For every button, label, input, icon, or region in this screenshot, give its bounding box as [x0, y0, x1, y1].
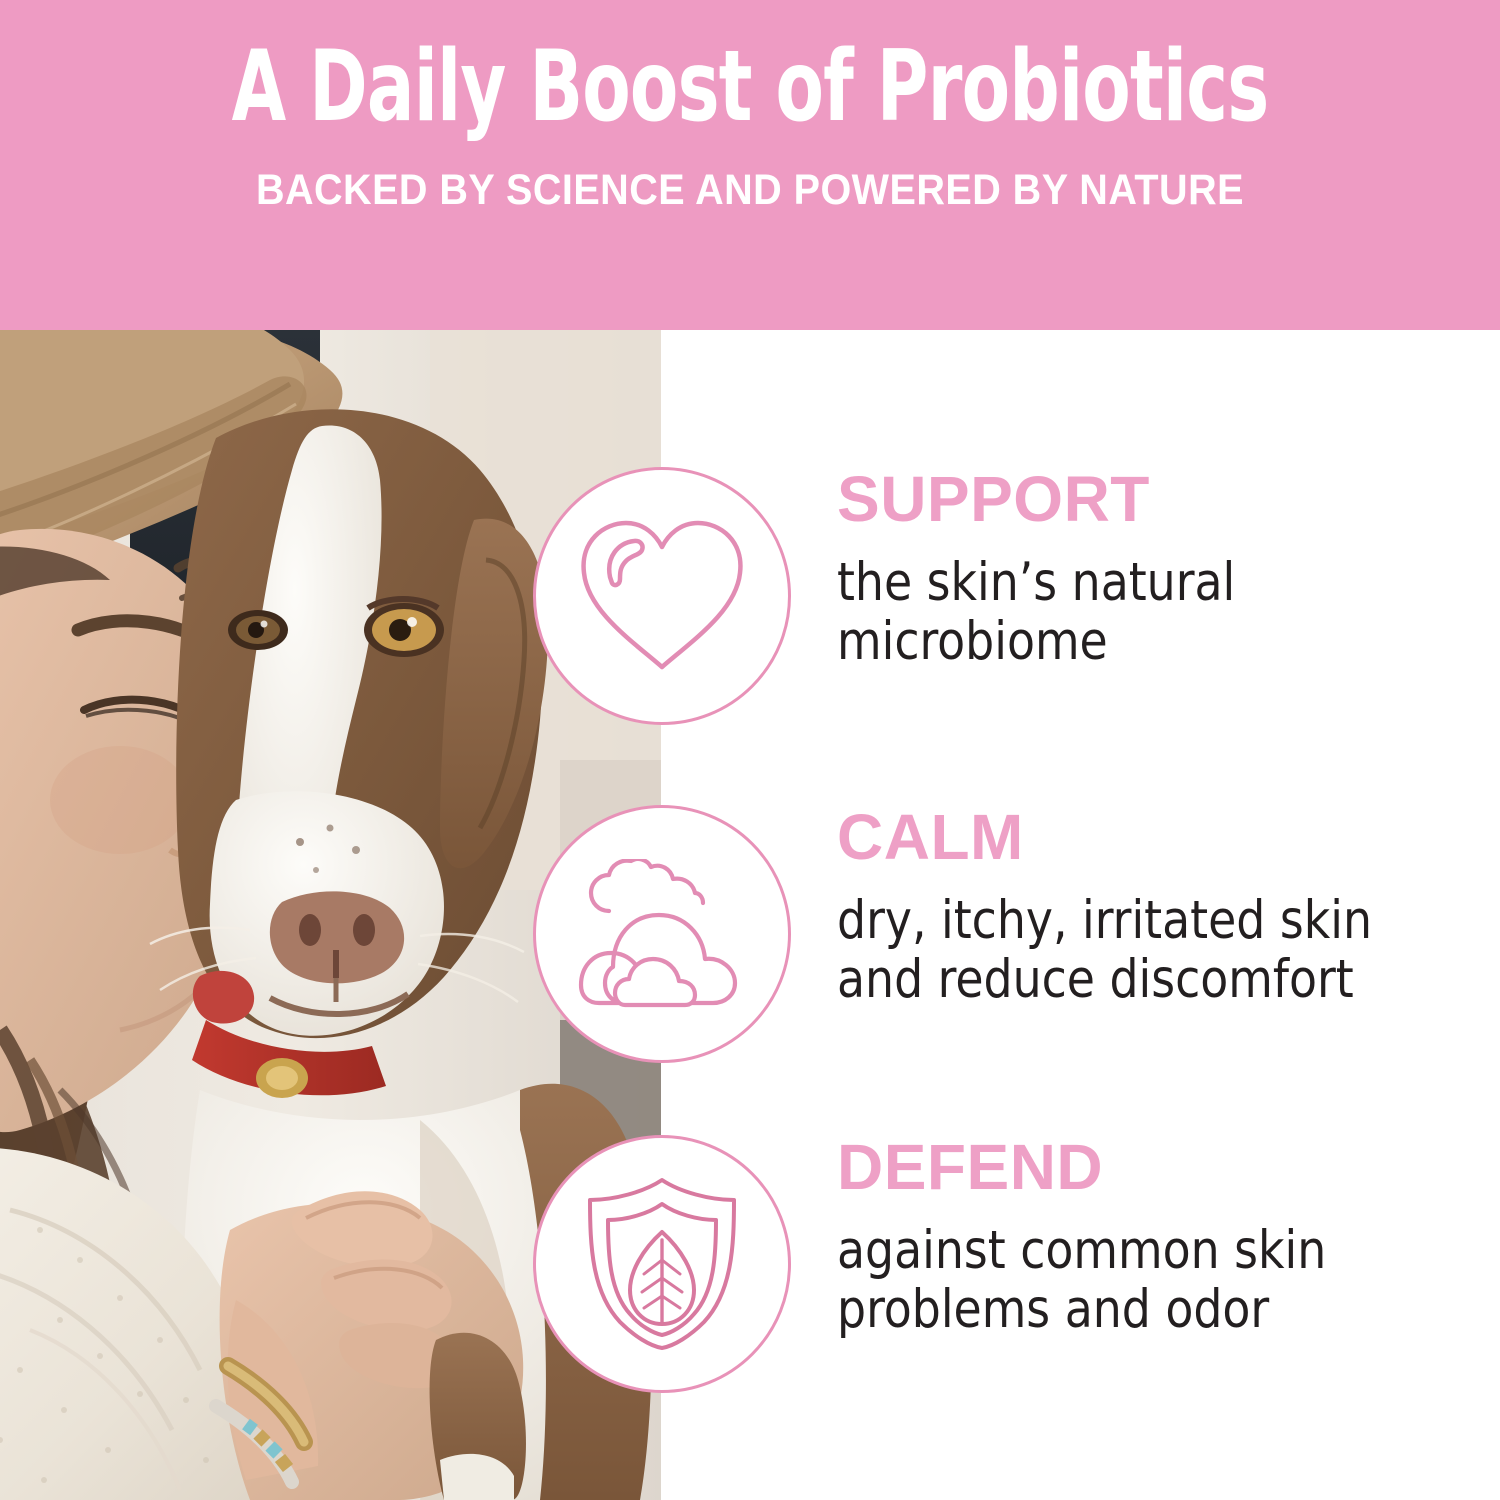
feature-body-line: against common skin	[837, 1221, 1451, 1280]
feature-body: the skin’s natural microbiome	[837, 553, 1451, 672]
feature-heading: DEFEND	[837, 1135, 1477, 1199]
feature-text-support: SUPPORT the skin’s natural microbiome	[837, 467, 1477, 672]
shield-leaf-icon-circle	[533, 1135, 791, 1393]
feature-body-line: problems and odor	[837, 1280, 1451, 1339]
feature-body: against common skin problems and odor	[837, 1221, 1451, 1340]
clouds-icon-circle	[533, 805, 791, 1063]
feature-body: dry, itchy, irritated skin and reduce di…	[837, 891, 1451, 1010]
heart-icon	[574, 515, 750, 677]
page-subtitle: BACKED BY SCIENCE AND POWERED BY NATURE	[256, 166, 1244, 215]
heart-icon-circle	[533, 467, 791, 725]
feature-heading: SUPPORT	[837, 467, 1477, 531]
header-banner: A Daily Boost of Probiotics BACKED BY SC…	[0, 0, 1500, 330]
feature-text-defend: DEFEND against common skin problems and …	[837, 1135, 1477, 1340]
clouds-icon	[573, 859, 751, 1009]
feature-heading: CALM	[837, 805, 1477, 869]
feature-body-line: and reduce discomfort	[837, 950, 1451, 1009]
feature-body-line: dry, itchy, irritated skin	[837, 891, 1451, 950]
feature-body-line: the skin’s natural	[837, 553, 1451, 612]
feature-body-line: microbiome	[837, 612, 1451, 671]
shield-leaf-icon	[582, 1176, 742, 1352]
feature-list: SUPPORT the skin’s natural microbiome	[0, 330, 1500, 1500]
page-title: A Daily Boost of Probiotics	[232, 38, 1269, 136]
feature-text-calm: CALM dry, itchy, irritated skin and redu…	[837, 805, 1477, 1010]
